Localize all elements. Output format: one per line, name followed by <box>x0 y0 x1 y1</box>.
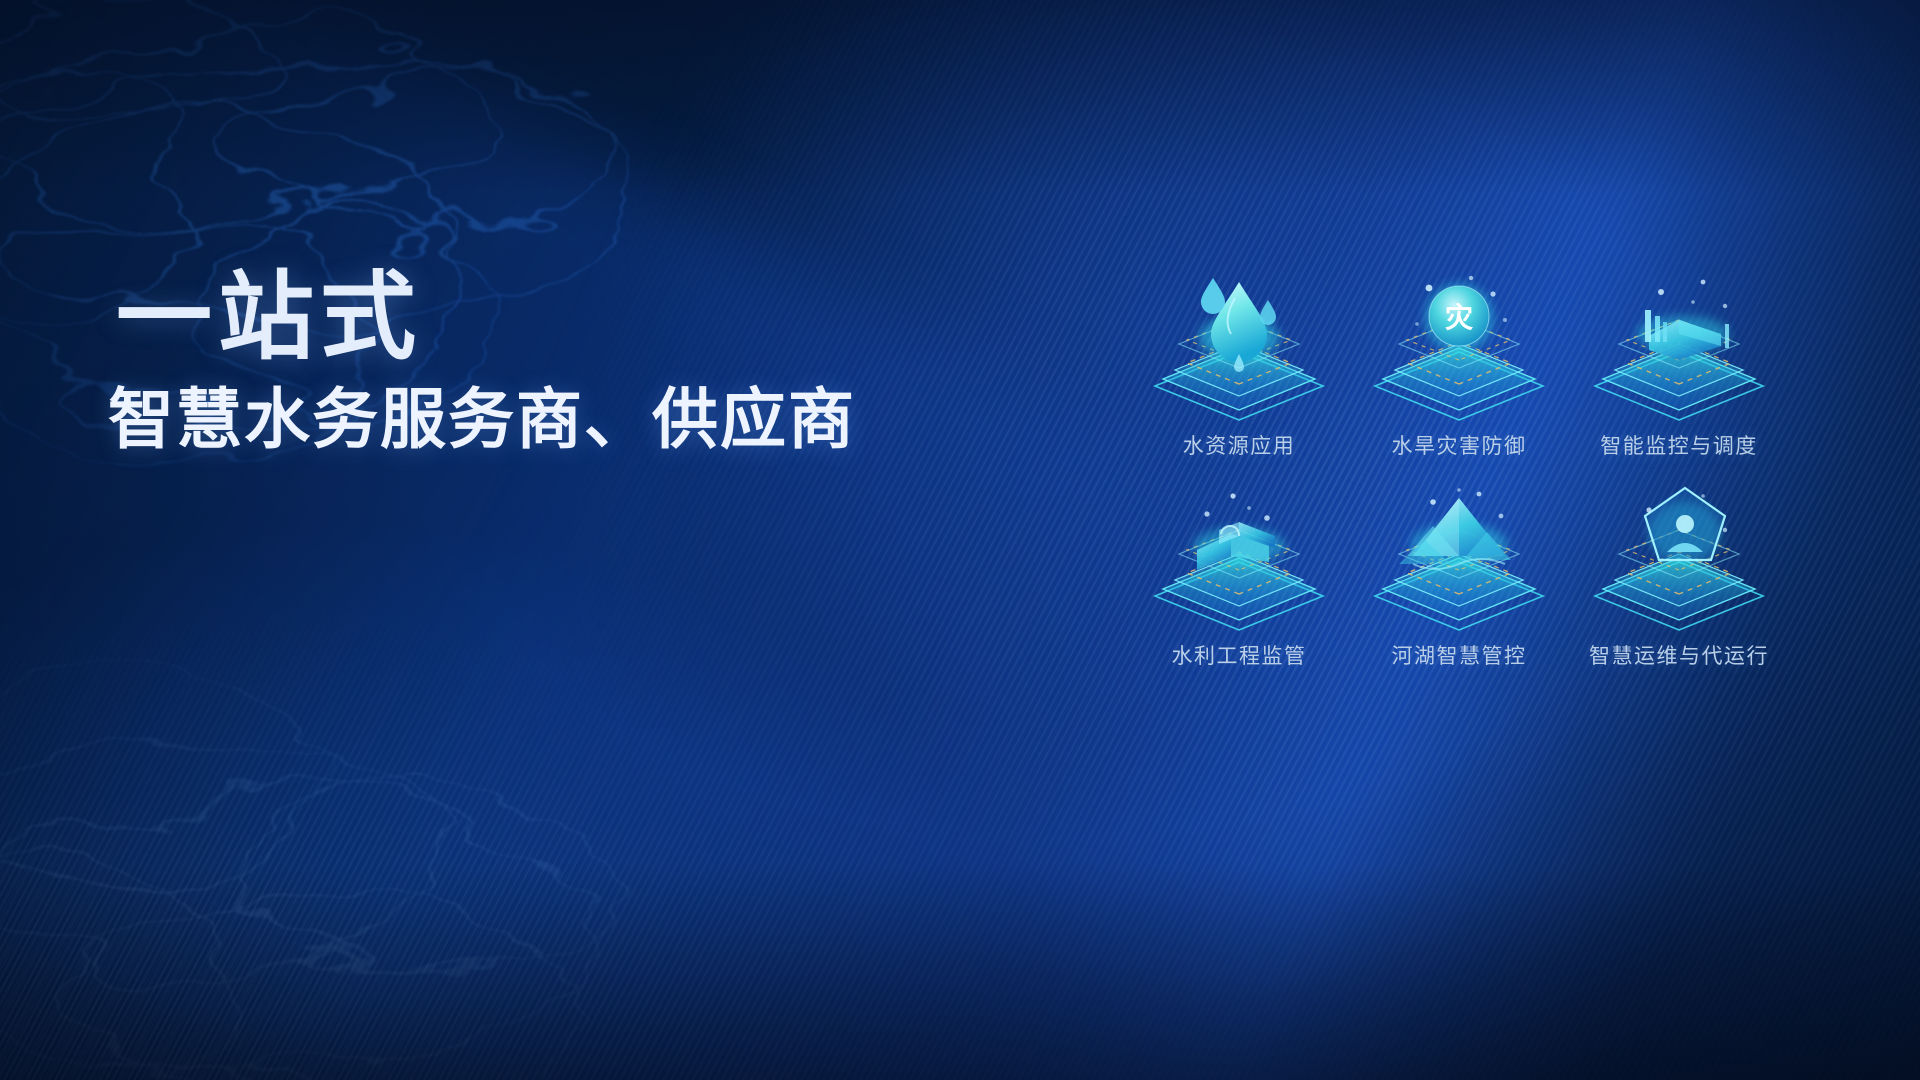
river-lake-terrain-icon <box>1355 482 1563 634</box>
capability-item-river-lake[interactable]: 河湖智慧管控 <box>1355 482 1563 670</box>
capability-item-smart-ops[interactable]: 智慧运维与代运行 <box>1575 482 1783 670</box>
capability-label: 水利工程监管 <box>1172 640 1307 670</box>
headline-sub: 智慧水务服务商、供应商 <box>108 383 1008 456</box>
capability-grid: 水资源应用 灾 <box>1135 272 1783 670</box>
headline-main: 一站式 <box>116 268 1008 369</box>
capability-item-water-resource[interactable]: 水资源应用 <box>1135 272 1343 460</box>
disaster-sphere-icon: 灾 <box>1355 272 1563 424</box>
capability-label: 水旱灾害防御 <box>1392 430 1527 460</box>
capability-item-water-works[interactable]: 水利工程监管 <box>1135 482 1343 670</box>
dam-monitor-icon <box>1575 272 1783 424</box>
capability-label: 智慧运维与代运行 <box>1589 640 1769 670</box>
water-drop-icon <box>1135 272 1343 424</box>
capability-label: 智能监控与调度 <box>1600 430 1758 460</box>
capability-label: 河湖智慧管控 <box>1392 640 1527 670</box>
headline-block: 一站式 智慧水务服务商、供应商 <box>108 268 1008 455</box>
shield-operations-icon <box>1575 482 1783 634</box>
capability-item-flood-drought[interactable]: 灾 水旱灾害防御 <box>1355 272 1563 460</box>
water-works-icon <box>1135 482 1343 634</box>
capability-item-smart-monitoring[interactable]: 智能监控与调度 <box>1575 272 1783 460</box>
disaster-glyph: 灾 <box>1445 301 1473 333</box>
capability-label: 水资源应用 <box>1183 430 1296 460</box>
